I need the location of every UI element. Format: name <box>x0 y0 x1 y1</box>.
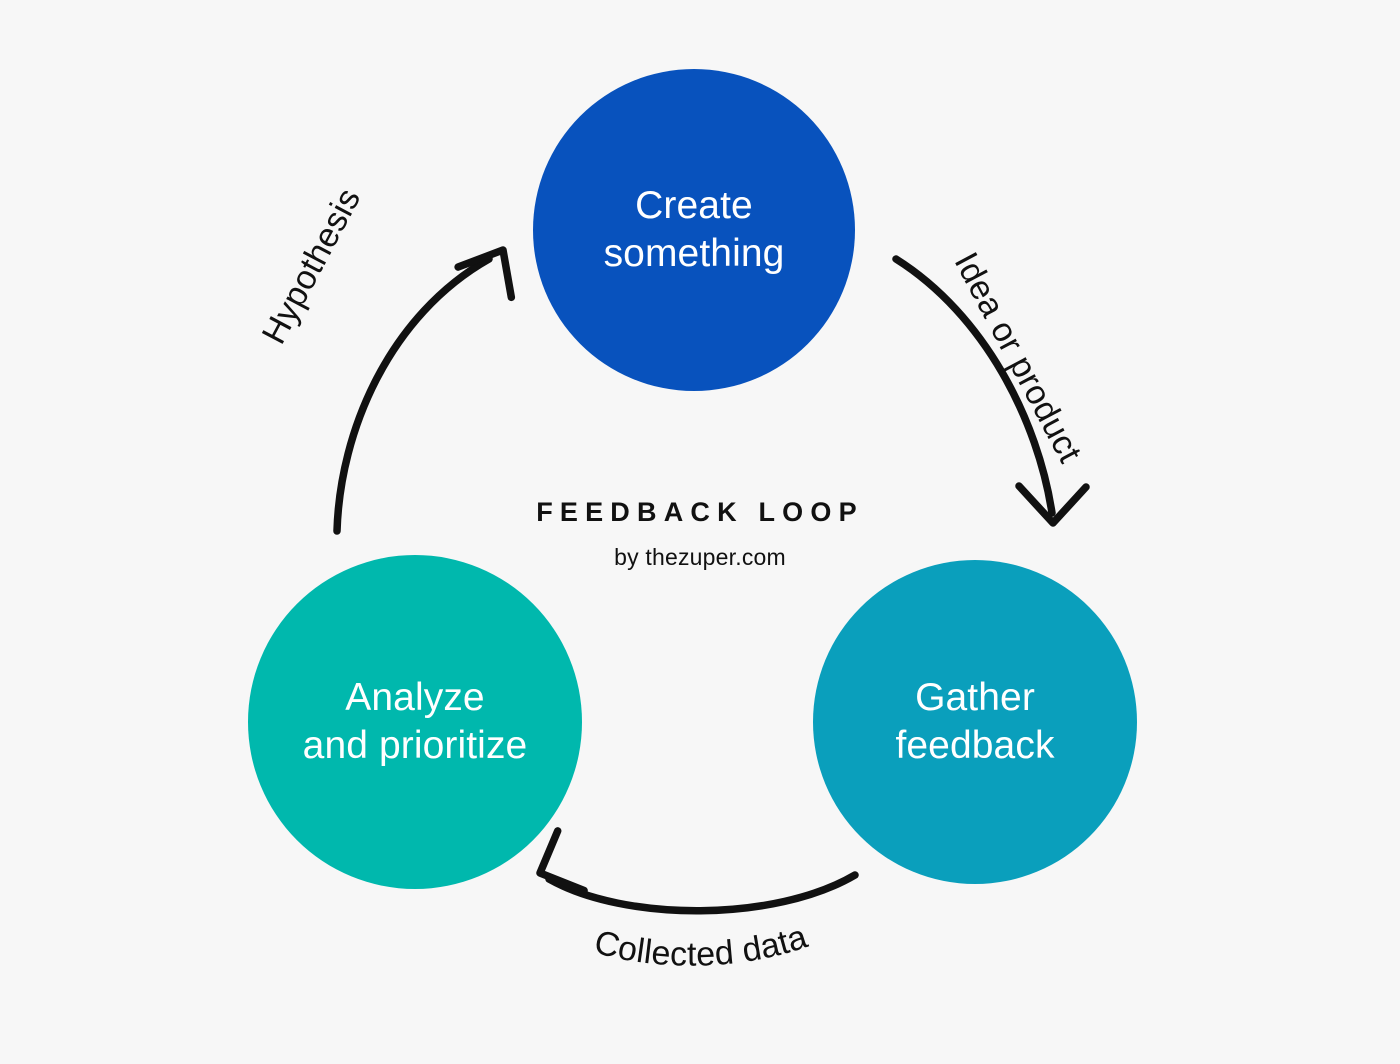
node-create-something[interactable]: Create something <box>533 69 855 391</box>
node-analyze-and-prioritize-label: Analyze and prioritize <box>303 674 528 770</box>
diagram-title: FEEDBACK LOOP <box>400 495 1000 529</box>
arrow-hypothesis <box>337 249 521 531</box>
arrow-collected-data <box>536 829 855 911</box>
center-caption: FEEDBACK LOOP by thezuper.com <box>400 495 1000 571</box>
node-gather-feedback-label: Gather feedback <box>895 674 1054 770</box>
diagram-subtitle: by thezuper.com <box>400 543 1000 571</box>
feedback-loop-diagram: Create something Gather feedback Analyze… <box>0 0 1400 1064</box>
node-analyze-and-prioritize[interactable]: Analyze and prioritize <box>248 555 582 889</box>
node-create-something-label: Create something <box>604 182 785 278</box>
node-gather-feedback[interactable]: Gather feedback <box>813 560 1137 884</box>
